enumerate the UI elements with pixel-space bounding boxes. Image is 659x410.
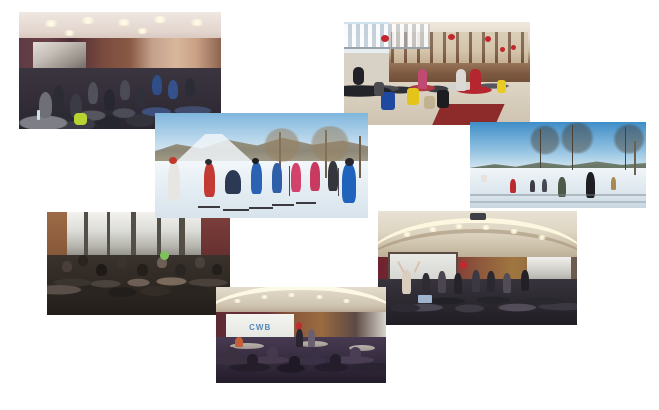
- skier-blue-jacket: [272, 163, 282, 193]
- delegate-green-bag: [74, 113, 87, 125]
- suitcase-yellow: [407, 88, 419, 105]
- presenter: [487, 271, 495, 292]
- skier-blue-jacket-front: [342, 163, 356, 203]
- laptop-on-table: [418, 295, 432, 303]
- attendee-head: [175, 264, 186, 276]
- screen-logo-text: CWB: [236, 323, 284, 333]
- delegate-blue-uniform: [152, 75, 162, 95]
- skis: [272, 204, 294, 206]
- ceiling-spotlight: [454, 224, 464, 229]
- skier-pink-jacket: [310, 162, 320, 191]
- presenter: [472, 270, 480, 292]
- guest-white-coat: [456, 69, 466, 91]
- snow-track: [470, 201, 646, 203]
- ceiling-spotlight: [342, 299, 351, 303]
- backpack-black: [353, 67, 364, 85]
- suitcase-black: [437, 90, 449, 108]
- guest-head: [310, 347, 321, 359]
- photo-3-scene: [155, 113, 368, 218]
- ceiling-light: [189, 19, 205, 26]
- trail-sign: [481, 175, 487, 182]
- ceiling-light: [152, 16, 168, 23]
- guest-head: [350, 347, 361, 359]
- skier-instructor: [168, 161, 180, 201]
- skis: [223, 209, 249, 211]
- photo-ballroom-hands-raised[interactable]: [378, 211, 577, 325]
- presenter: [454, 273, 462, 294]
- delegate: [136, 87, 146, 107]
- ceiling-spotlight: [428, 227, 438, 232]
- tree-canopy: [262, 128, 302, 162]
- photo-5-scene: [47, 212, 230, 315]
- ski-pole: [338, 168, 339, 196]
- red-lantern: [500, 47, 505, 52]
- delegate: [185, 78, 195, 97]
- attendee-head: [195, 257, 205, 268]
- guest-head: [247, 354, 258, 366]
- photo-collage: CWB: [0, 0, 659, 410]
- photo-6-scene: [378, 211, 577, 325]
- tree-trunk: [359, 136, 361, 178]
- delegate: [104, 89, 115, 111]
- ceiling-spotlight: [402, 232, 412, 237]
- delegate: [120, 80, 130, 100]
- photo-4-scene: [470, 122, 646, 208]
- photo-hotel-entrance-luggage[interactable]: [344, 22, 530, 125]
- photo-banquet-hall-projector[interactable]: CWB: [216, 287, 386, 383]
- presenter-standing: [308, 329, 315, 347]
- skier-tan: [611, 177, 616, 190]
- photo-2-scene: [344, 22, 530, 125]
- ceiling-spotlight: [260, 295, 269, 299]
- presenter: [521, 270, 529, 291]
- suitcase-yellow: [497, 80, 506, 93]
- lift-pole: [634, 141, 636, 175]
- ceiling-light: [116, 19, 132, 26]
- ceiling-spotlight: [233, 299, 242, 303]
- ceiling-spotlight: [537, 235, 547, 240]
- suitcase-grey: [374, 82, 384, 96]
- guest-head: [289, 356, 300, 368]
- ceiling-light: [80, 17, 96, 24]
- attendee-head: [78, 255, 88, 266]
- photo-conference-hall-delegates[interactable]: [19, 12, 221, 129]
- skier-red-jacket: [204, 163, 215, 197]
- guest-orange-top: [235, 337, 243, 347]
- skis: [296, 202, 316, 204]
- presenter: [503, 273, 511, 293]
- photo-1-scene: [19, 12, 221, 129]
- skier-helmet: [345, 158, 354, 166]
- guest-pink-coat: [418, 69, 427, 89]
- skier-blue-jacket: [251, 162, 262, 194]
- presenter-standing: [296, 329, 303, 347]
- skier-dark: [530, 180, 535, 192]
- skier-pink-jacket: [291, 163, 301, 192]
- ceiling-light: [63, 30, 76, 36]
- water-bottle: [37, 110, 40, 120]
- skier-dark-jacket: [328, 161, 338, 191]
- presenter: [438, 271, 446, 293]
- skier-bending: [225, 170, 241, 194]
- guest-head: [330, 354, 341, 366]
- photo-7-scene: CWB: [216, 287, 386, 383]
- attendee-head: [212, 264, 222, 275]
- photo-ski-lesson-lineup[interactable]: [155, 113, 368, 218]
- tree-branches: [558, 122, 596, 154]
- photo-open-ski-slope[interactable]: [470, 122, 646, 208]
- skis: [249, 207, 273, 209]
- tree-canopy: [308, 126, 352, 162]
- projector-unit: [470, 213, 486, 220]
- suitcase-tan: [424, 96, 435, 109]
- skier-dark: [542, 179, 547, 192]
- skier-helmet: [169, 157, 177, 164]
- attendee-head: [62, 261, 72, 272]
- ceiling-spotlight: [287, 293, 296, 297]
- guest-head: [226, 347, 237, 359]
- tree-branches: [611, 124, 646, 154]
- ceiling-spotlight: [315, 295, 324, 299]
- red-wall-lantern: [460, 261, 467, 269]
- guest-red-coat: [470, 69, 481, 93]
- guest-head: [267, 347, 278, 359]
- presenter: [422, 273, 430, 295]
- ski-pole: [289, 166, 290, 196]
- attendee-head: [96, 264, 107, 276]
- attendee-head: [137, 264, 148, 276]
- delegate: [88, 82, 98, 104]
- delegate: [39, 92, 52, 118]
- skis: [198, 206, 220, 208]
- photo-audience-forest-mural[interactable]: [47, 212, 230, 315]
- snow-track: [470, 194, 646, 196]
- presenter-arms-up: [402, 270, 411, 294]
- ceiling-spotlight: [481, 225, 491, 230]
- attendee-head: [117, 257, 127, 268]
